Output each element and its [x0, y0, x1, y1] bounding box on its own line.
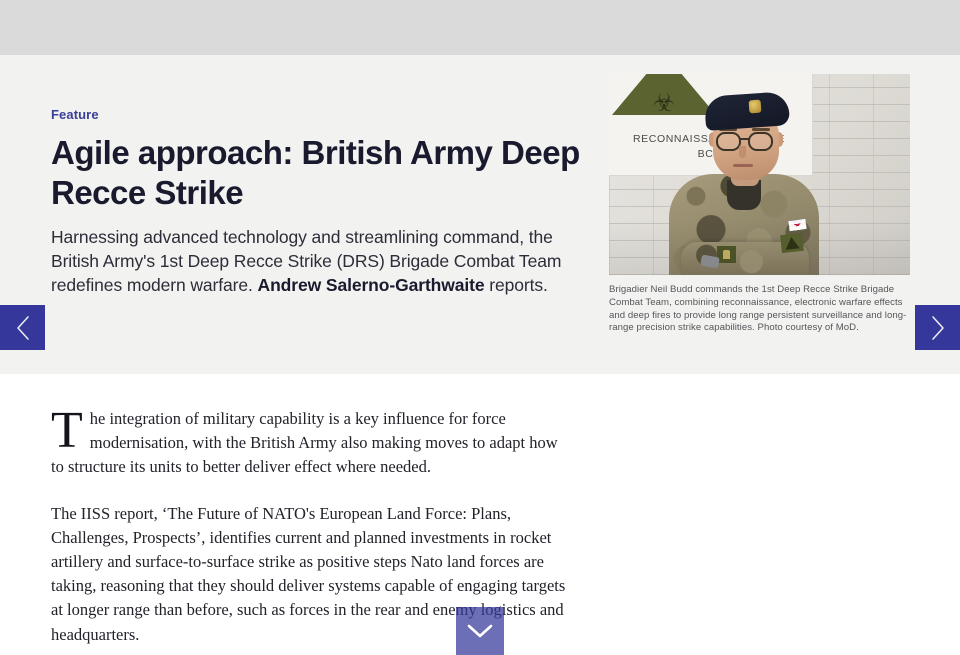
glasses-lens-left [716, 132, 741, 151]
chevron-right-icon [929, 315, 947, 341]
hero-photo: ☣ RECONNAISSANCE STRIKE BCT [609, 74, 910, 275]
page-title: Agile approach: British Army Deep Recce … [51, 133, 581, 213]
nose [739, 146, 746, 158]
previous-article-button[interactable] [0, 305, 45, 350]
glasses-lens-right [748, 132, 773, 151]
beret-headwear [704, 91, 790, 131]
hero-text-block: Feature Agile approach: British Army Dee… [51, 107, 581, 297]
standfirst-tail: reports. [485, 275, 548, 295]
next-article-button[interactable] [915, 305, 960, 350]
article-hero-section: Feature Agile approach: British Army Dee… [0, 55, 960, 374]
photo-caption: Brigadier Neil Budd commands the 1st Dee… [609, 284, 909, 335]
glasses-bridge [740, 138, 749, 140]
cap-badge-icon [749, 100, 762, 114]
article-paragraph: The integration of military capability i… [51, 407, 571, 480]
rank-slide-icon [717, 246, 736, 263]
soldier-figure [609, 74, 910, 275]
article-kicker: Feature [51, 107, 581, 123]
unit-formation-patch-icon [780, 233, 804, 253]
mouth [733, 164, 753, 167]
article-standfirst: Harnessing advanced technology and strea… [51, 225, 581, 297]
author-byline: Andrew Salerno-Garthwaite [258, 275, 485, 295]
eyebrow-right [752, 128, 770, 131]
chevron-left-icon [14, 315, 32, 341]
chevron-down-icon [466, 622, 494, 640]
hero-media-block: ☣ RECONNAISSANCE STRIKE BCT [609, 74, 910, 335]
browser-chrome-bar [0, 0, 960, 55]
scroll-down-button[interactable] [456, 607, 504, 655]
